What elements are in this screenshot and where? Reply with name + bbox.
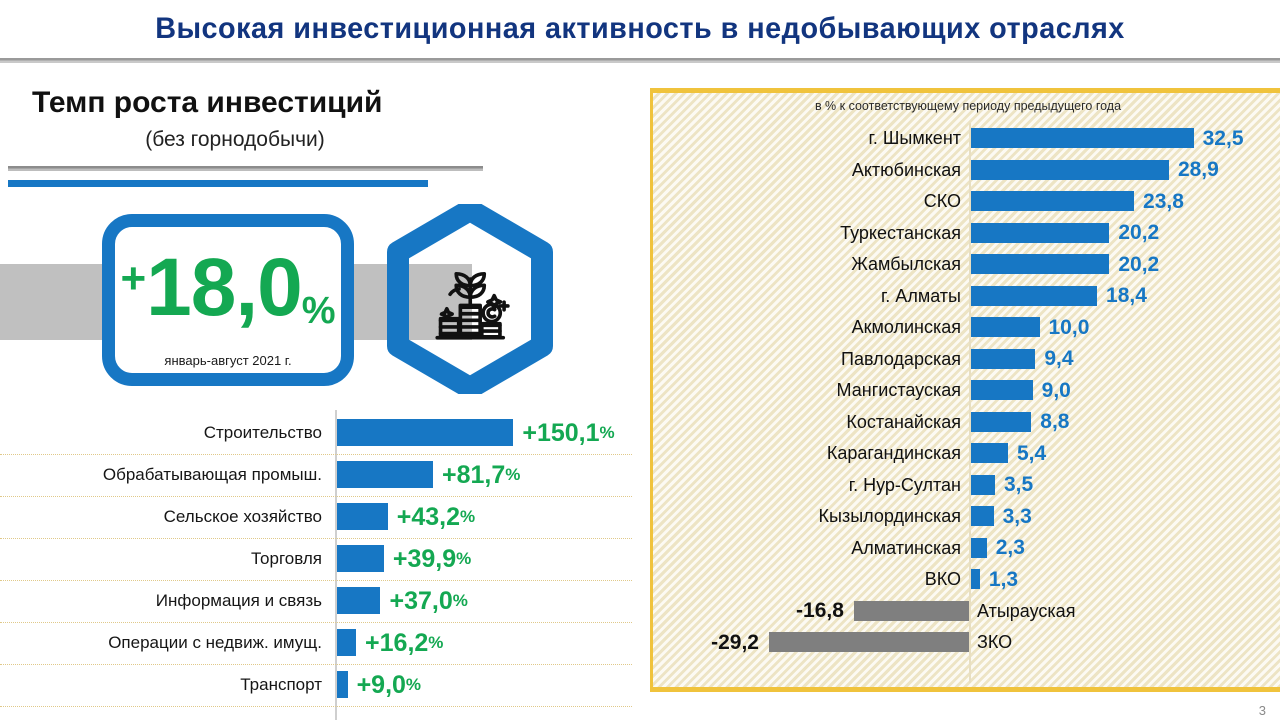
table-row: Павлодарская9,4 <box>653 344 1280 376</box>
blue-rule <box>8 180 428 187</box>
stat-unit: % <box>302 290 336 332</box>
table-row: СКО23,8 <box>653 186 1280 218</box>
industry-bar <box>337 587 380 614</box>
region-bar <box>854 601 969 621</box>
gray-rule <box>8 166 483 171</box>
region-bar <box>971 443 1008 463</box>
industry-value-label: +43,2% <box>397 496 475 538</box>
region-label: Карагандинская <box>653 438 961 470</box>
region-value-label: 28,9 <box>1178 155 1219 187</box>
region-bar <box>971 254 1109 274</box>
left-panel-subtitle: (без горнодобычи) <box>0 128 470 152</box>
industry-value-label: +37,0% <box>389 580 467 622</box>
stat-period-label: январь-август 2021 г. <box>115 353 341 368</box>
industry-value-label: +39,9% <box>393 538 471 580</box>
region-bar <box>971 223 1109 243</box>
region-label: Мангистауская <box>653 375 961 407</box>
region-bar <box>769 632 969 652</box>
region-value-label: 9,4 <box>1044 344 1073 376</box>
region-label: г. Шымкент <box>653 123 961 155</box>
table-row: Актюбинская28,9 <box>653 155 1280 187</box>
table-row: Строительство+150,1% <box>0 412 645 454</box>
region-value-label: -29,2 <box>653 627 759 659</box>
industry-value-label: +81,7% <box>442 454 520 496</box>
region-value-label: 3,3 <box>1003 501 1032 533</box>
region-bar <box>971 475 995 495</box>
region-value-label: 5,4 <box>1017 438 1046 470</box>
industry-value-label: +16,2% <box>365 622 443 664</box>
table-row: Операции с недвиж. имущ.+16,2% <box>0 622 645 664</box>
table-row: Информация и связь+37,0% <box>0 580 645 622</box>
region-value-label: 10,0 <box>1049 312 1090 344</box>
industry-value-label: +9,0% <box>357 664 421 706</box>
region-bar <box>971 538 987 558</box>
table-row: Транспорт+9,0% <box>0 664 645 706</box>
right-panel: в % к соответствующему периоду предыдуще… <box>650 88 1280 692</box>
stat-number: 18,0 <box>146 242 302 333</box>
table-row: г. Алматы18,4 <box>653 281 1280 313</box>
table-row: Мангистауская9,0 <box>653 375 1280 407</box>
region-label: Кызылординская <box>653 501 961 533</box>
region-bar <box>971 160 1169 180</box>
right-panel-note: в % к соответствующему периоду предыдуще… <box>653 99 1280 113</box>
left-panel: Темп роста инвестиций (без горнодобычи) … <box>0 70 645 720</box>
region-label: г. Нур-Султан <box>653 470 961 502</box>
table-row: Атырауская-16,8 <box>653 596 1280 628</box>
header-divider <box>0 58 1280 63</box>
page-title: Высокая инвестиционная активность в недо… <box>155 12 1125 46</box>
region-label: СКО <box>653 186 961 218</box>
headline-stat-value: +18,0% <box>115 247 341 330</box>
region-label: Атырауская <box>977 596 1267 628</box>
table-row: Акмолинская10,0 <box>653 312 1280 344</box>
region-bar <box>971 286 1097 306</box>
region-bar <box>971 380 1033 400</box>
region-label: Павлодарская <box>653 344 961 376</box>
region-label: ЗКО <box>977 627 1267 659</box>
region-label: Жамбылская <box>653 249 961 281</box>
left-panel-title: Темп роста инвестиций <box>32 86 382 120</box>
industry-value-label: +150,1% <box>522 412 614 454</box>
row-separator <box>0 706 632 707</box>
slide-header: Высокая инвестиционная активность в недо… <box>0 0 1280 58</box>
industry-bar <box>337 419 513 446</box>
industry-label: Обрабатывающая промыш. <box>0 454 322 496</box>
region-label: г. Алматы <box>653 281 961 313</box>
region-bar <box>971 412 1031 432</box>
table-row: Карагандинская5,4 <box>653 438 1280 470</box>
industry-bar <box>337 545 384 572</box>
region-value-label: 1,3 <box>989 564 1018 596</box>
region-bar <box>971 128 1194 148</box>
stat-sign: + <box>120 254 146 303</box>
region-bar <box>971 191 1134 211</box>
region-bar <box>971 506 994 526</box>
industry-bar-chart: Строительство+150,1%Обрабатывающая промы… <box>0 410 645 720</box>
table-row: Обрабатывающая промыш.+81,7% <box>0 454 645 496</box>
table-row: Туркестанская20,2 <box>653 218 1280 250</box>
region-value-label: 20,2 <box>1118 218 1159 250</box>
industry-bar <box>337 671 348 698</box>
industry-bar <box>337 503 388 530</box>
table-row: ЗКО-29,2 <box>653 627 1280 659</box>
region-label: Актюбинская <box>653 155 961 187</box>
table-row: г. Нур-Султан3,5 <box>653 470 1280 502</box>
region-value-label: 3,5 <box>1004 470 1033 502</box>
table-row: Костанайская8,8 <box>653 407 1280 439</box>
table-row: Алматинская2,3 <box>653 533 1280 565</box>
industry-bar <box>337 461 433 488</box>
page-number: 3 <box>1259 703 1266 718</box>
region-bar-chart: г. Шымкент32,5Актюбинская28,9СКО23,8Турк… <box>653 123 1280 683</box>
region-bar <box>971 317 1040 337</box>
industry-bar <box>337 629 356 656</box>
headline-stat-card: +18,0% январь-август 2021 г. <box>102 214 354 386</box>
industry-label: Транспорт <box>0 664 322 706</box>
industry-label: Операции с недвиж. имущ. <box>0 622 322 664</box>
region-label: Туркестанская <box>653 218 961 250</box>
region-bar <box>971 569 980 589</box>
region-value-label: 8,8 <box>1040 407 1069 439</box>
region-value-label: 18,4 <box>1106 281 1147 313</box>
industry-label: Сельское хозяйство <box>0 496 322 538</box>
table-row: ВКО1,3 <box>653 564 1280 596</box>
region-value-label: 23,8 <box>1143 186 1184 218</box>
region-value-label: -16,8 <box>653 596 844 628</box>
table-row: г. Шымкент32,5 <box>653 123 1280 155</box>
region-value-label: 32,5 <box>1203 123 1244 155</box>
coins-plant-growth-icon <box>387 204 553 394</box>
region-bar <box>971 349 1035 369</box>
industry-label: Торговля <box>0 538 322 580</box>
table-row: Жамбылская20,2 <box>653 249 1280 281</box>
region-label: ВКО <box>653 564 961 596</box>
region-label: Алматинская <box>653 533 961 565</box>
table-row: Торговля+39,9% <box>0 538 645 580</box>
region-value-label: 9,0 <box>1042 375 1071 407</box>
industry-label: Информация и связь <box>0 580 322 622</box>
region-value-label: 20,2 <box>1118 249 1159 281</box>
table-row: Кызылординская3,3 <box>653 501 1280 533</box>
table-row: Сельское хозяйство+43,2% <box>0 496 645 538</box>
region-value-label: 2,3 <box>996 533 1025 565</box>
region-label: Акмолинская <box>653 312 961 344</box>
region-label: Костанайская <box>653 407 961 439</box>
industry-label: Строительство <box>0 412 322 454</box>
